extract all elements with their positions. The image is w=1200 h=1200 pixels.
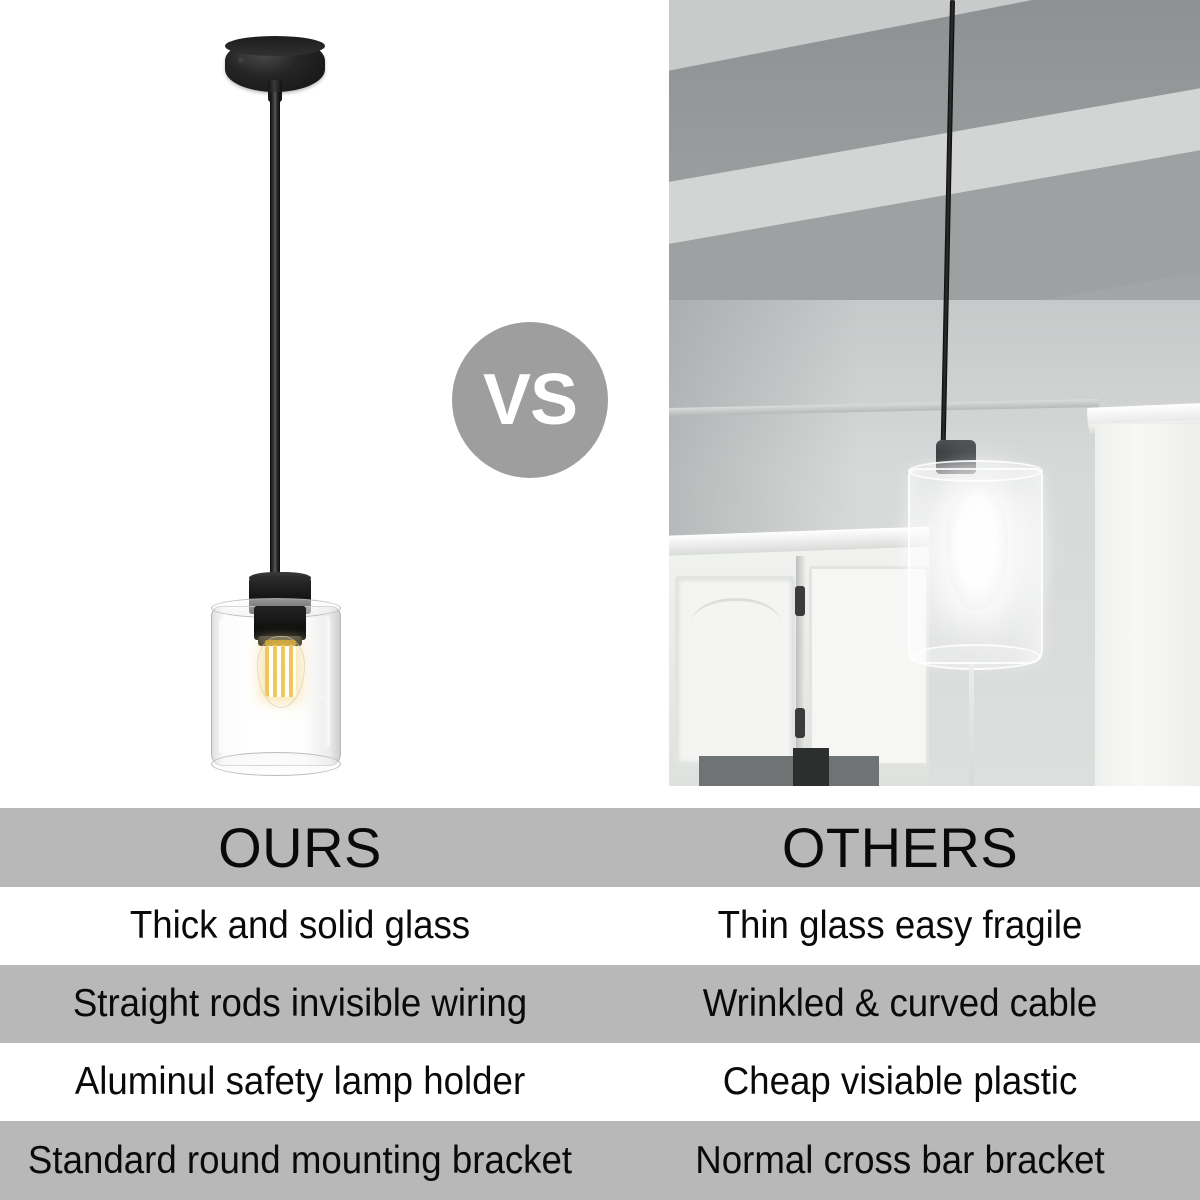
- canopy-screw-icon: [238, 57, 244, 63]
- others-feature-3: Cheap visiable plastic: [618, 1043, 1182, 1121]
- table-row: Standard round mounting bracket Normal c…: [0, 1121, 1200, 1200]
- kitchen-dark-slot: [793, 748, 829, 786]
- others-feature-2: Wrinkled & curved cable: [618, 965, 1182, 1043]
- ceiling-band-light: [669, 0, 1200, 78]
- photo-glass-base: [910, 644, 1041, 670]
- glass-highlight-left: [219, 618, 228, 754]
- kitchen-cabinet-right: [1095, 424, 1200, 786]
- glass-shade-base: [211, 752, 341, 776]
- ours-feature-4: Standard round mounting bracket: [18, 1121, 582, 1200]
- led-filament: [265, 645, 296, 697]
- vs-badge: VS: [452, 322, 608, 478]
- glass-highlight-right: [322, 616, 330, 748]
- ours-feature-1: Thick and solid glass: [18, 887, 582, 965]
- comparison-image-area: VS: [0, 0, 1200, 790]
- table-header-row: OURS OTHERS: [0, 808, 1200, 887]
- others-feature-1: Thin glass easy fragile: [618, 887, 1182, 965]
- ours-feature-2: Straight rods invisible wiring: [18, 965, 582, 1043]
- table-row: Straight rods invisible wiring Wrinkled …: [0, 965, 1200, 1043]
- canopy-plate: [225, 36, 325, 56]
- straight-rod: [270, 92, 280, 584]
- cabinet-hinge-upper-icon: [795, 586, 805, 616]
- comparison-table: OURS OTHERS Thick and solid glass Thin g…: [0, 786, 1200, 1200]
- others-product-photo: [669, 0, 1200, 786]
- header-ours: OURS: [0, 808, 600, 887]
- kitchen-dark-appliance: [699, 756, 879, 786]
- product-comparison-page: VS: [0, 0, 1200, 1200]
- header-others: OTHERS: [600, 808, 1200, 887]
- photo-ceiling: [669, 0, 1200, 300]
- table-row: Thick and solid glass Thin glass easy fr…: [0, 887, 1200, 965]
- others-feature-4: Normal cross bar bracket: [618, 1121, 1182, 1200]
- vs-label: VS: [483, 364, 577, 436]
- ours-feature-3: Aluminul safety lamp holder: [18, 1043, 582, 1121]
- table-row: Aluminul safety lamp holder Cheap visiab…: [0, 1043, 1200, 1121]
- cabinet-hinge-lower-icon: [795, 708, 805, 738]
- photo-cord-below: [969, 664, 974, 786]
- lamp-holder: [254, 606, 306, 640]
